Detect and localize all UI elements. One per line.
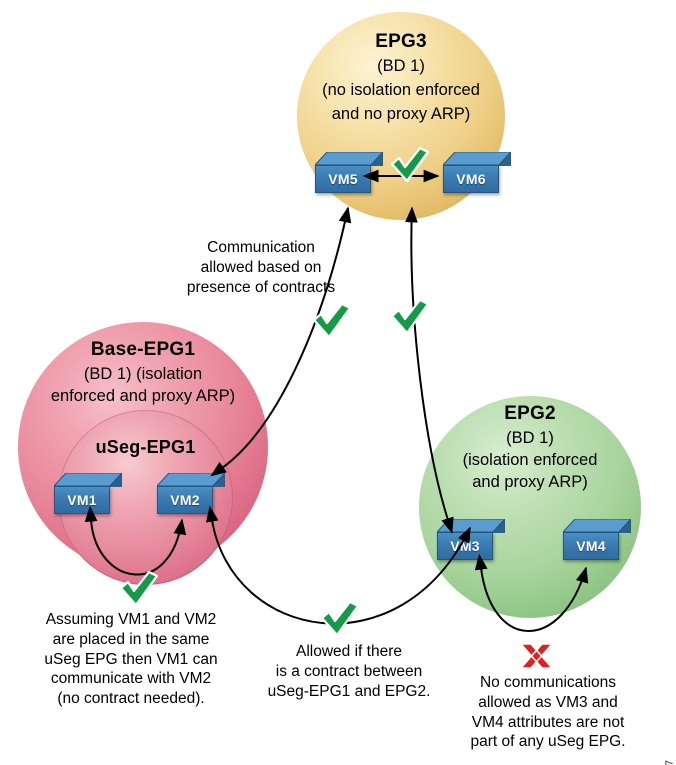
note-contracts-line1: Communication [166,238,356,258]
note-same-useg-line2: are placed in the same [16,630,246,650]
vm-box-vm6[interactable]: VM6 [443,152,511,194]
vm1-front-face: VM1 [54,486,110,514]
vm6-label: VM6 [456,171,485,187]
note-no-comms-line4: part of any uSeg EPG. [448,732,648,752]
vm-box-vm3[interactable]: VM3 [437,519,505,561]
note-same-useg-line5: (no contract needed). [16,689,246,709]
note-same-useg-line3: uSeg EPG then VM1 can [16,650,246,670]
vm4-label: VM4 [576,538,605,554]
vm1-top-face [54,473,122,487]
vm3-label: VM3 [450,538,479,554]
note-contract-between-line3: uSeg-EPG1 and EPG2. [253,682,445,702]
vm-box-vm1[interactable]: VM1 [54,473,122,515]
note-same-useg: Assuming VM1 and VM2 are placed in the s… [16,610,246,709]
note-contract-between-line2: is a contract between [253,662,445,682]
note-no-comms-line1: No communications [448,673,648,693]
vm2-label: VM2 [170,492,199,508]
check-icon-epg1-epg3 [314,304,350,337]
note-no-comms: No communications allowed as VM3 and VM4… [448,673,648,752]
epg2-circle[interactable] [419,396,641,618]
note-contract-between-line1: Allowed if there [253,642,445,662]
note-no-comms-line3: VM4 attributes are not [448,713,648,733]
note-contracts-line2: allowed based on [166,258,356,278]
note-same-useg-line4: communicate with VM2 [16,669,246,689]
vm5-front-face: VM5 [315,165,371,193]
check-icon-useg-epg2 [322,602,358,635]
vm6-front-face: VM6 [443,165,499,193]
vm5-top-face [315,152,383,166]
figure-id-watermark: 301047 [664,759,675,765]
vm-box-vm2[interactable]: VM2 [157,473,225,515]
vm-box-vm5[interactable]: VM5 [315,152,383,194]
vm4-top-face [563,519,631,533]
vm1-label: VM1 [67,492,96,508]
vm2-front-face: VM2 [157,486,213,514]
vm4-front-face: VM4 [563,532,619,560]
vm3-front-face: VM3 [437,532,493,560]
vm2-top-face [157,473,225,487]
check-icon-epg2-epg3 [392,300,428,333]
note-contracts: Communication allowed based on presence … [166,238,356,297]
note-no-comms-line2: allowed as VM3 and [448,693,648,713]
vm5-label: VM5 [328,171,357,187]
note-contract-between: Allowed if there is a contract between u… [253,642,445,701]
vm3-top-face [437,519,505,533]
note-contracts-line3: presence of contracts [166,278,356,298]
note-same-useg-line1: Assuming VM1 and VM2 [16,610,246,630]
vm6-top-face [443,152,511,166]
cross-icon-vm3-vm4 [521,644,552,668]
diagram-canvas: EPG3 (BD 1) (no isolation enforced and n… [0,0,676,765]
vm-box-vm4[interactable]: VM4 [563,519,631,561]
